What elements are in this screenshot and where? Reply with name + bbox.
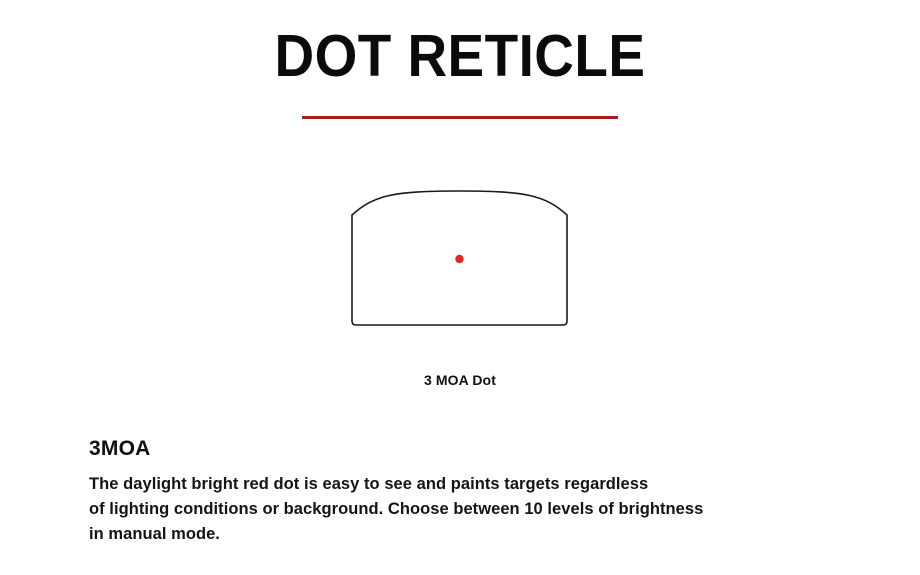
- description-heading: 3MOA: [89, 437, 899, 460]
- description-line-2: of lighting conditions or background. Ch…: [89, 497, 899, 522]
- description-line-1: The daylight bright red dot is easy to s…: [89, 472, 899, 497]
- reticle-window-icon: [340, 182, 580, 362]
- red-dot-indicator: [455, 255, 463, 263]
- reticle-figure: 3 MOA Dot: [340, 182, 580, 397]
- description-block: 3MOA The daylight bright red dot is easy…: [89, 437, 899, 547]
- title-underline-rule: [302, 116, 618, 119]
- dot-reticle-page: DOT RETICLE 3 MOA Dot 3MOA The daylight …: [0, 0, 920, 575]
- page-title: DOT RETICLE: [32, 26, 888, 88]
- description-line-3: in manual mode.: [89, 522, 899, 547]
- reticle-caption: 3 MOA Dot: [340, 372, 580, 388]
- description-paragraph: The daylight bright red dot is easy to s…: [89, 472, 899, 547]
